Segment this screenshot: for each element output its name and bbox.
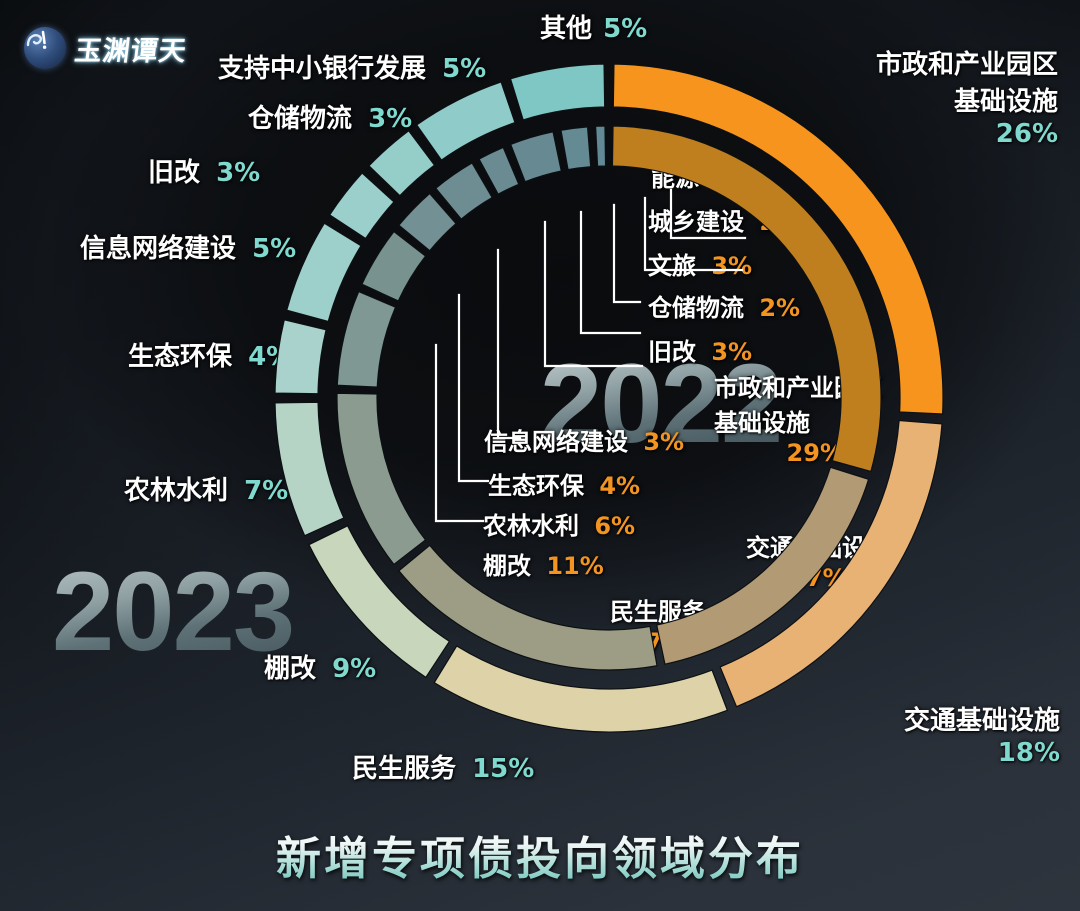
leader-lines <box>0 0 1080 911</box>
infographic-canvas: 2023 2022 玉渊谭天 市政和产业园区 基础设施 <box>0 0 1080 911</box>
